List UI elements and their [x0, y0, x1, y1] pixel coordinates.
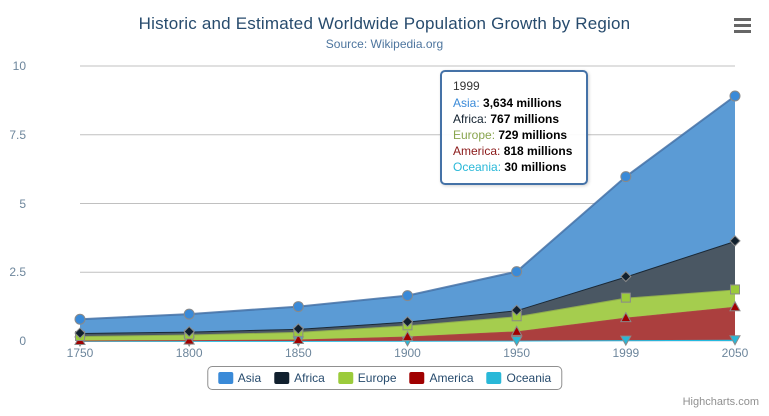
marker-asia-1950[interactable]: [512, 267, 522, 277]
legend-label: America: [430, 371, 474, 385]
tooltip-series-name: America:: [453, 144, 504, 158]
tooltip-series-name: Oceania:: [453, 160, 504, 174]
tooltip-row-america: America: 818 millions: [453, 143, 575, 159]
hamburger-bar-2: [734, 24, 751, 27]
legend-item-europe[interactable]: Europe: [338, 371, 397, 385]
legend-swatch-asia: [218, 372, 233, 384]
legend-swatch-africa: [274, 372, 289, 384]
legend-label: Asia: [238, 371, 261, 385]
tooltip-series-value: 3,634 millions: [483, 96, 562, 110]
tooltip: 1999 Asia: 3,634 millionsAfrica: 767 mil…: [440, 70, 588, 185]
x-axis-tick-1750: 1750: [67, 346, 94, 360]
marker-asia-2050[interactable]: [730, 91, 740, 101]
tooltip-series-name: Africa:: [453, 112, 490, 126]
tooltip-series-value: 767 millions: [490, 112, 559, 126]
highcharts-container: Historic and Estimated Worldwide Populat…: [0, 0, 769, 416]
x-axis-tick-1800: 1800: [176, 346, 203, 360]
x-axis-tick-2050: 2050: [722, 346, 749, 360]
legend-item-asia[interactable]: Asia: [218, 371, 261, 385]
chart-plot-svg: [80, 66, 735, 341]
tooltip-header: 1999: [453, 79, 575, 93]
tooltip-row-asia: Asia: 3,634 millions: [453, 95, 575, 111]
tooltip-row-africa: Africa: 767 millions: [453, 111, 575, 127]
x-axis-tick-1850: 1850: [285, 346, 312, 360]
marker-asia-1850[interactable]: [293, 302, 303, 312]
tooltip-rows: Asia: 3,634 millionsAfrica: 767 millions…: [453, 95, 575, 175]
tooltip-series-value: 818 millions: [504, 144, 573, 158]
legend-swatch-oceania: [487, 372, 502, 384]
y-axis-tick-2.5: 2.5: [0, 265, 26, 279]
y-axis-tick-5: 5: [0, 197, 26, 211]
marker-asia-1900[interactable]: [403, 291, 413, 301]
tooltip-series-name: Europe:: [453, 128, 498, 142]
marker-europe-1999[interactable]: [621, 293, 630, 302]
legend-item-america[interactable]: America: [410, 371, 474, 385]
y-axis-tick-10: 10: [0, 59, 26, 73]
hamburger-menu-icon[interactable]: [729, 14, 755, 37]
legend-swatch-america: [410, 372, 425, 384]
tooltip-series-value: 729 millions: [498, 128, 567, 142]
tooltip-series-value: 30 millions: [504, 160, 566, 174]
chart-title: Historic and Estimated Worldwide Populat…: [0, 14, 769, 34]
tooltip-row-oceania: Oceania: 30 millions: [453, 159, 575, 175]
x-axis-tick-1900: 1900: [394, 346, 421, 360]
y-axis-tick-0: 0: [0, 334, 26, 348]
marker-asia-1999[interactable]: [621, 172, 631, 182]
chart-subtitle: Source: Wikipedia.org: [0, 37, 769, 51]
x-axis-tick-1950: 1950: [503, 346, 530, 360]
marker-asia-1750[interactable]: [75, 314, 85, 324]
x-axis-tick-1999: 1999: [612, 346, 639, 360]
legend-label: Africa: [294, 371, 325, 385]
marker-europe-2050[interactable]: [731, 285, 740, 294]
y-axis-tick-7.5: 7.5: [0, 128, 26, 142]
credits-link[interactable]: Highcharts.com: [683, 396, 759, 408]
tooltip-row-europe: Europe: 729 millions: [453, 127, 575, 143]
tooltip-series-name: Asia:: [453, 96, 483, 110]
chart-legend: AsiaAfricaEuropeAmericaOceania: [207, 366, 562, 390]
legend-item-africa[interactable]: Africa: [274, 371, 325, 385]
legend-swatch-europe: [338, 372, 353, 384]
plot-area: [80, 66, 735, 341]
hamburger-bar-3: [734, 30, 751, 33]
hamburger-bar-1: [734, 18, 751, 21]
legend-label: Oceania: [507, 371, 552, 385]
legend-item-oceania[interactable]: Oceania: [487, 371, 552, 385]
legend-label: Europe: [358, 371, 397, 385]
marker-asia-1800[interactable]: [184, 309, 194, 319]
